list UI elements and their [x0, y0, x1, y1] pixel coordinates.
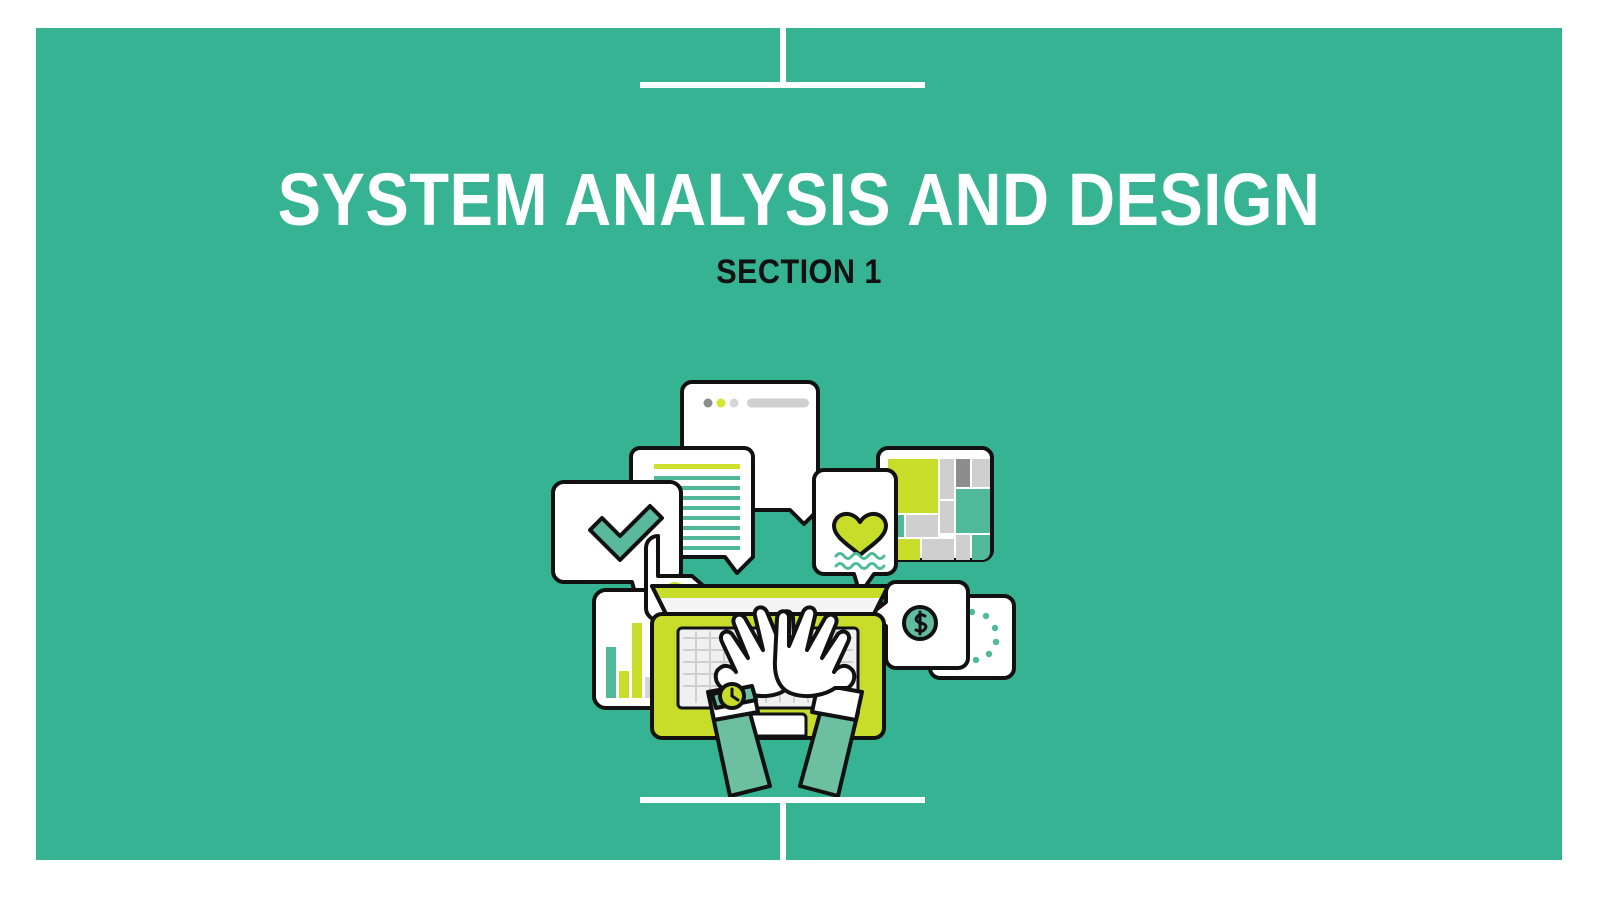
browser-dot-1 — [704, 399, 713, 408]
heading-line — [654, 464, 740, 469]
browser-dot-3 — [730, 399, 739, 408]
browser-address-bar — [747, 399, 809, 408]
heart-card — [814, 470, 896, 594]
illustration-person-typing-on-laptop — [516, 340, 1016, 800]
browser-dot-2 — [717, 399, 726, 408]
slide-panel: SYSTEM ANALYSIS AND DESIGN SECTION 1 — [36, 28, 1562, 860]
bottom-vertical-tick — [780, 797, 786, 860]
page-subtitle: SECTION 1 — [112, 253, 1485, 292]
slide-canvas: SYSTEM ANALYSIS AND DESIGN SECTION 1 — [0, 0, 1600, 900]
page-title: SYSTEM ANALYSIS AND DESIGN — [128, 163, 1471, 237]
top-vertical-tick — [780, 28, 786, 88]
dollar-sign — [916, 612, 926, 634]
